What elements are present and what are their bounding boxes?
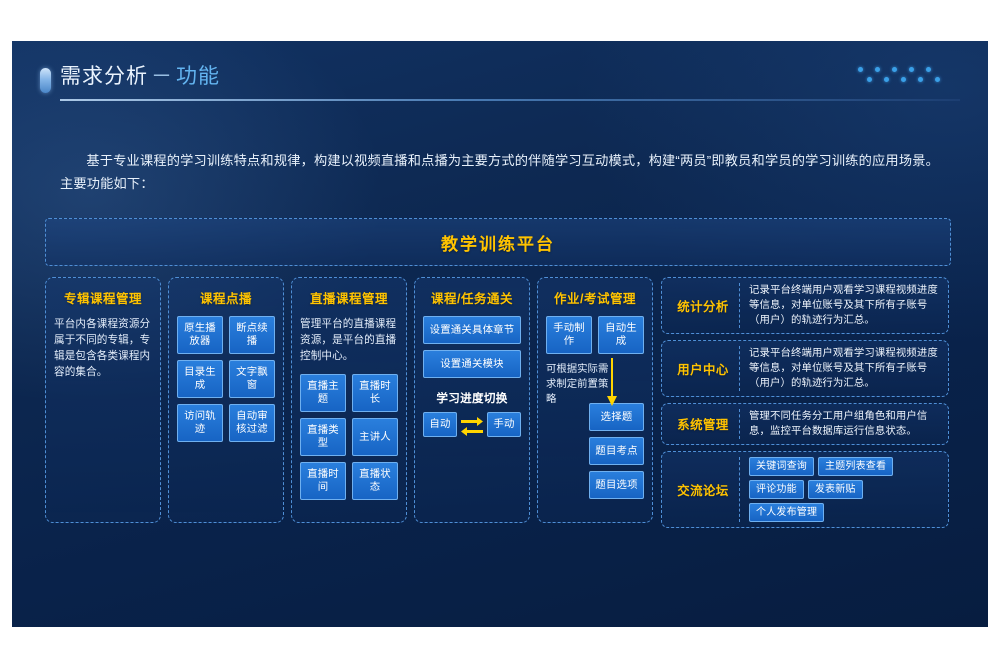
feature-chip[interactable]: 主讲人 bbox=[352, 418, 398, 456]
column-chip-grid: 直播主题 直播时长 直播类型 主讲人 直播时间 直播状态 bbox=[300, 374, 398, 500]
module-row-user-center[interactable]: 用户中心 记录平台终端用户观看学习课程视频进度等信息，对单位账号及其下所有子账号… bbox=[661, 340, 949, 397]
forum-chip[interactable]: 主题列表查看 bbox=[818, 457, 893, 476]
feature-column-album-course[interactable]: 专辑课程管理 平台内各课程资源分属于不同的专辑，专辑是包含各类课程内容的集合。 bbox=[45, 277, 161, 523]
feature-column-exam-management[interactable]: 作业/考试管理 手动制作 自动生成 可根据实际需求制定前置策略 选择题 题目考点 bbox=[537, 277, 653, 523]
bidirectional-swap-arrows-icon bbox=[459, 413, 485, 437]
column-title: 作业/考试管理 bbox=[546, 288, 644, 307]
feature-chip[interactable]: 目录生成 bbox=[177, 360, 223, 398]
column-description: 平台内各课程资源分属于不同的专辑，专辑是包含各类课程内容的集合。 bbox=[54, 316, 152, 380]
platform-title: 教学训练平台 bbox=[441, 230, 555, 255]
module-label: 用户中心 bbox=[667, 346, 740, 391]
module-description: 记录平台终端用户观看学习课程视频进度等信息，对单位账号及其下所有子账号（用户）的… bbox=[749, 283, 940, 328]
forum-chip[interactable]: 评论功能 bbox=[749, 480, 804, 499]
column-title: 课程点播 bbox=[177, 288, 275, 307]
forum-chip[interactable]: 个人发布管理 bbox=[749, 503, 824, 522]
decoration-dot bbox=[918, 77, 923, 82]
feature-chip[interactable]: 直播主题 bbox=[300, 374, 346, 412]
decoration-dot bbox=[858, 67, 863, 72]
intro-paragraph: 基于专业课程的学习训练特点和规律，构建以视频直播和点播为主要方式的伴随学习互动模… bbox=[60, 149, 950, 195]
right-module-panel: 统计分析 记录平台终端用户观看学习课程视频进度等信息，对单位账号及其下所有子账号… bbox=[661, 277, 949, 523]
feature-chip[interactable]: 手动制作 bbox=[546, 316, 592, 354]
forum-chip-group: 关键词查询 主题列表查看 评论功能 发表新贴 个人发布管理 bbox=[749, 457, 940, 522]
column-title: 专辑课程管理 bbox=[54, 288, 152, 307]
down-arrow-icon bbox=[604, 358, 620, 408]
dot-matrix-decoration-icon bbox=[858, 67, 958, 93]
feature-chip[interactable]: 自动生成 bbox=[598, 316, 644, 354]
module-label: 统计分析 bbox=[667, 283, 740, 328]
decoration-dot bbox=[867, 77, 872, 82]
page-title-sub: 功能 bbox=[176, 65, 220, 88]
slide-canvas: 需求分析－功能 基于专业课程的学习训练特点和规律，构建以视频直播和点播为主要方式… bbox=[12, 41, 988, 627]
module-description: 管理不同任务分工用户组角色和用户信息，监控平台数据库运行信息状态。 bbox=[749, 409, 940, 439]
title-pill-icon bbox=[40, 68, 51, 93]
module-body: 关键词查询 主题列表查看 评论功能 发表新贴 个人发布管理 bbox=[740, 457, 943, 522]
slide-header: 需求分析－功能 bbox=[12, 41, 988, 103]
page-title-main: 需求分析 bbox=[60, 65, 148, 88]
decoration-dot bbox=[884, 77, 889, 82]
module-body: 记录平台终端用户观看学习课程视频进度等信息，对单位账号及其下所有子账号（用户）的… bbox=[740, 283, 943, 328]
body-area: 专辑课程管理 平台内各课程资源分属于不同的专辑，专辑是包含各类课程内容的集合。 … bbox=[45, 277, 949, 523]
forum-chip[interactable]: 发表新贴 bbox=[808, 480, 863, 499]
switch-option-manual[interactable]: 手动 bbox=[487, 412, 521, 437]
column-description: 管理平台的直播课程资源，是平台的直播控制中心。 bbox=[300, 316, 398, 364]
module-row-statistics[interactable]: 统计分析 记录平台终端用户观看学习课程视频进度等信息，对单位账号及其下所有子账号… bbox=[661, 277, 949, 334]
decoration-dot bbox=[875, 67, 880, 72]
feature-chip[interactable]: 直播时长 bbox=[352, 374, 398, 412]
page-title-dash: － bbox=[148, 65, 176, 88]
feature-column-vod[interactable]: 课程点播 原生播放器 断点续播 目录生成 文字飘窗 访问轨迹 自动审核过滤 bbox=[168, 277, 284, 523]
module-row-system-management[interactable]: 系统管理 管理不同任务分工用户组角色和用户信息，监控平台数据库运行信息状态。 bbox=[661, 403, 949, 445]
strategy-note-area: 可根据实际需求制定前置策略 bbox=[546, 362, 644, 407]
feature-chip[interactable]: 设置通关模块 bbox=[423, 350, 521, 378]
platform-banner: 教学训练平台 bbox=[45, 218, 951, 266]
feature-chip[interactable]: 题目选项 bbox=[589, 471, 644, 499]
decoration-dot bbox=[901, 77, 906, 82]
question-chip-grid: 选择题 题目考点 题目选项 bbox=[546, 403, 644, 499]
decoration-dot bbox=[926, 67, 931, 72]
feature-chip[interactable]: 题目考点 bbox=[589, 437, 644, 465]
feature-chip[interactable]: 原生播放器 bbox=[177, 316, 223, 354]
feature-chip[interactable]: 断点续播 bbox=[229, 316, 275, 354]
feature-column-live-course[interactable]: 直播课程管理 管理平台的直播课程资源，是平台的直播控制中心。 直播主题 直播时长… bbox=[291, 277, 407, 523]
decoration-dot bbox=[935, 77, 940, 82]
feature-chip[interactable]: 直播类型 bbox=[300, 418, 346, 456]
feature-chip[interactable]: 访问轨迹 bbox=[177, 404, 223, 442]
feature-chip[interactable]: 文字飘窗 bbox=[229, 360, 275, 398]
progress-switch-label: 学习进度切换 bbox=[423, 390, 521, 406]
feature-chip[interactable]: 直播状态 bbox=[352, 462, 398, 500]
column-title: 直播课程管理 bbox=[300, 288, 398, 307]
module-description: 记录平台终端用户观看学习课程视频进度等信息，对单位账号及其下所有子账号（用户）的… bbox=[749, 346, 940, 391]
column-title: 课程/任务通关 bbox=[423, 288, 521, 307]
header-divider bbox=[60, 99, 960, 101]
page-title: 需求分析－功能 bbox=[60, 61, 220, 93]
column-chip-grid: 手动制作 自动生成 bbox=[546, 316, 644, 354]
module-body: 管理不同任务分工用户组角色和用户信息，监控平台数据库运行信息状态。 bbox=[740, 409, 943, 439]
decoration-dot bbox=[892, 67, 897, 72]
column-chip-grid: 设置通关具体章节 设置通关模块 bbox=[423, 316, 521, 378]
progress-switch-row: 自动 手动 bbox=[423, 412, 521, 437]
feature-columns: 专辑课程管理 平台内各课程资源分属于不同的专辑，专辑是包含各类课程内容的集合。 … bbox=[45, 277, 653, 523]
column-chip-grid: 原生播放器 断点续播 目录生成 文字飘窗 访问轨迹 自动审核过滤 bbox=[177, 316, 275, 442]
module-row-forum[interactable]: 交流论坛 关键词查询 主题列表查看 评论功能 发表新贴 个人发布管理 bbox=[661, 451, 949, 528]
feature-chip[interactable]: 自动审核过滤 bbox=[229, 404, 275, 442]
forum-chip[interactable]: 关键词查询 bbox=[749, 457, 814, 476]
feature-column-task-clearance[interactable]: 课程/任务通关 设置通关具体章节 设置通关模块 学习进度切换 自动 手动 bbox=[414, 277, 530, 523]
module-label: 交流论坛 bbox=[667, 457, 740, 522]
module-body: 记录平台终端用户观看学习课程视频进度等信息，对单位账号及其下所有子账号（用户）的… bbox=[740, 346, 943, 391]
decoration-dot bbox=[909, 67, 914, 72]
feature-chip[interactable]: 直播时间 bbox=[300, 462, 346, 500]
switch-option-auto[interactable]: 自动 bbox=[423, 412, 457, 437]
feature-chip[interactable]: 设置通关具体章节 bbox=[423, 316, 521, 344]
module-label: 系统管理 bbox=[667, 409, 740, 439]
